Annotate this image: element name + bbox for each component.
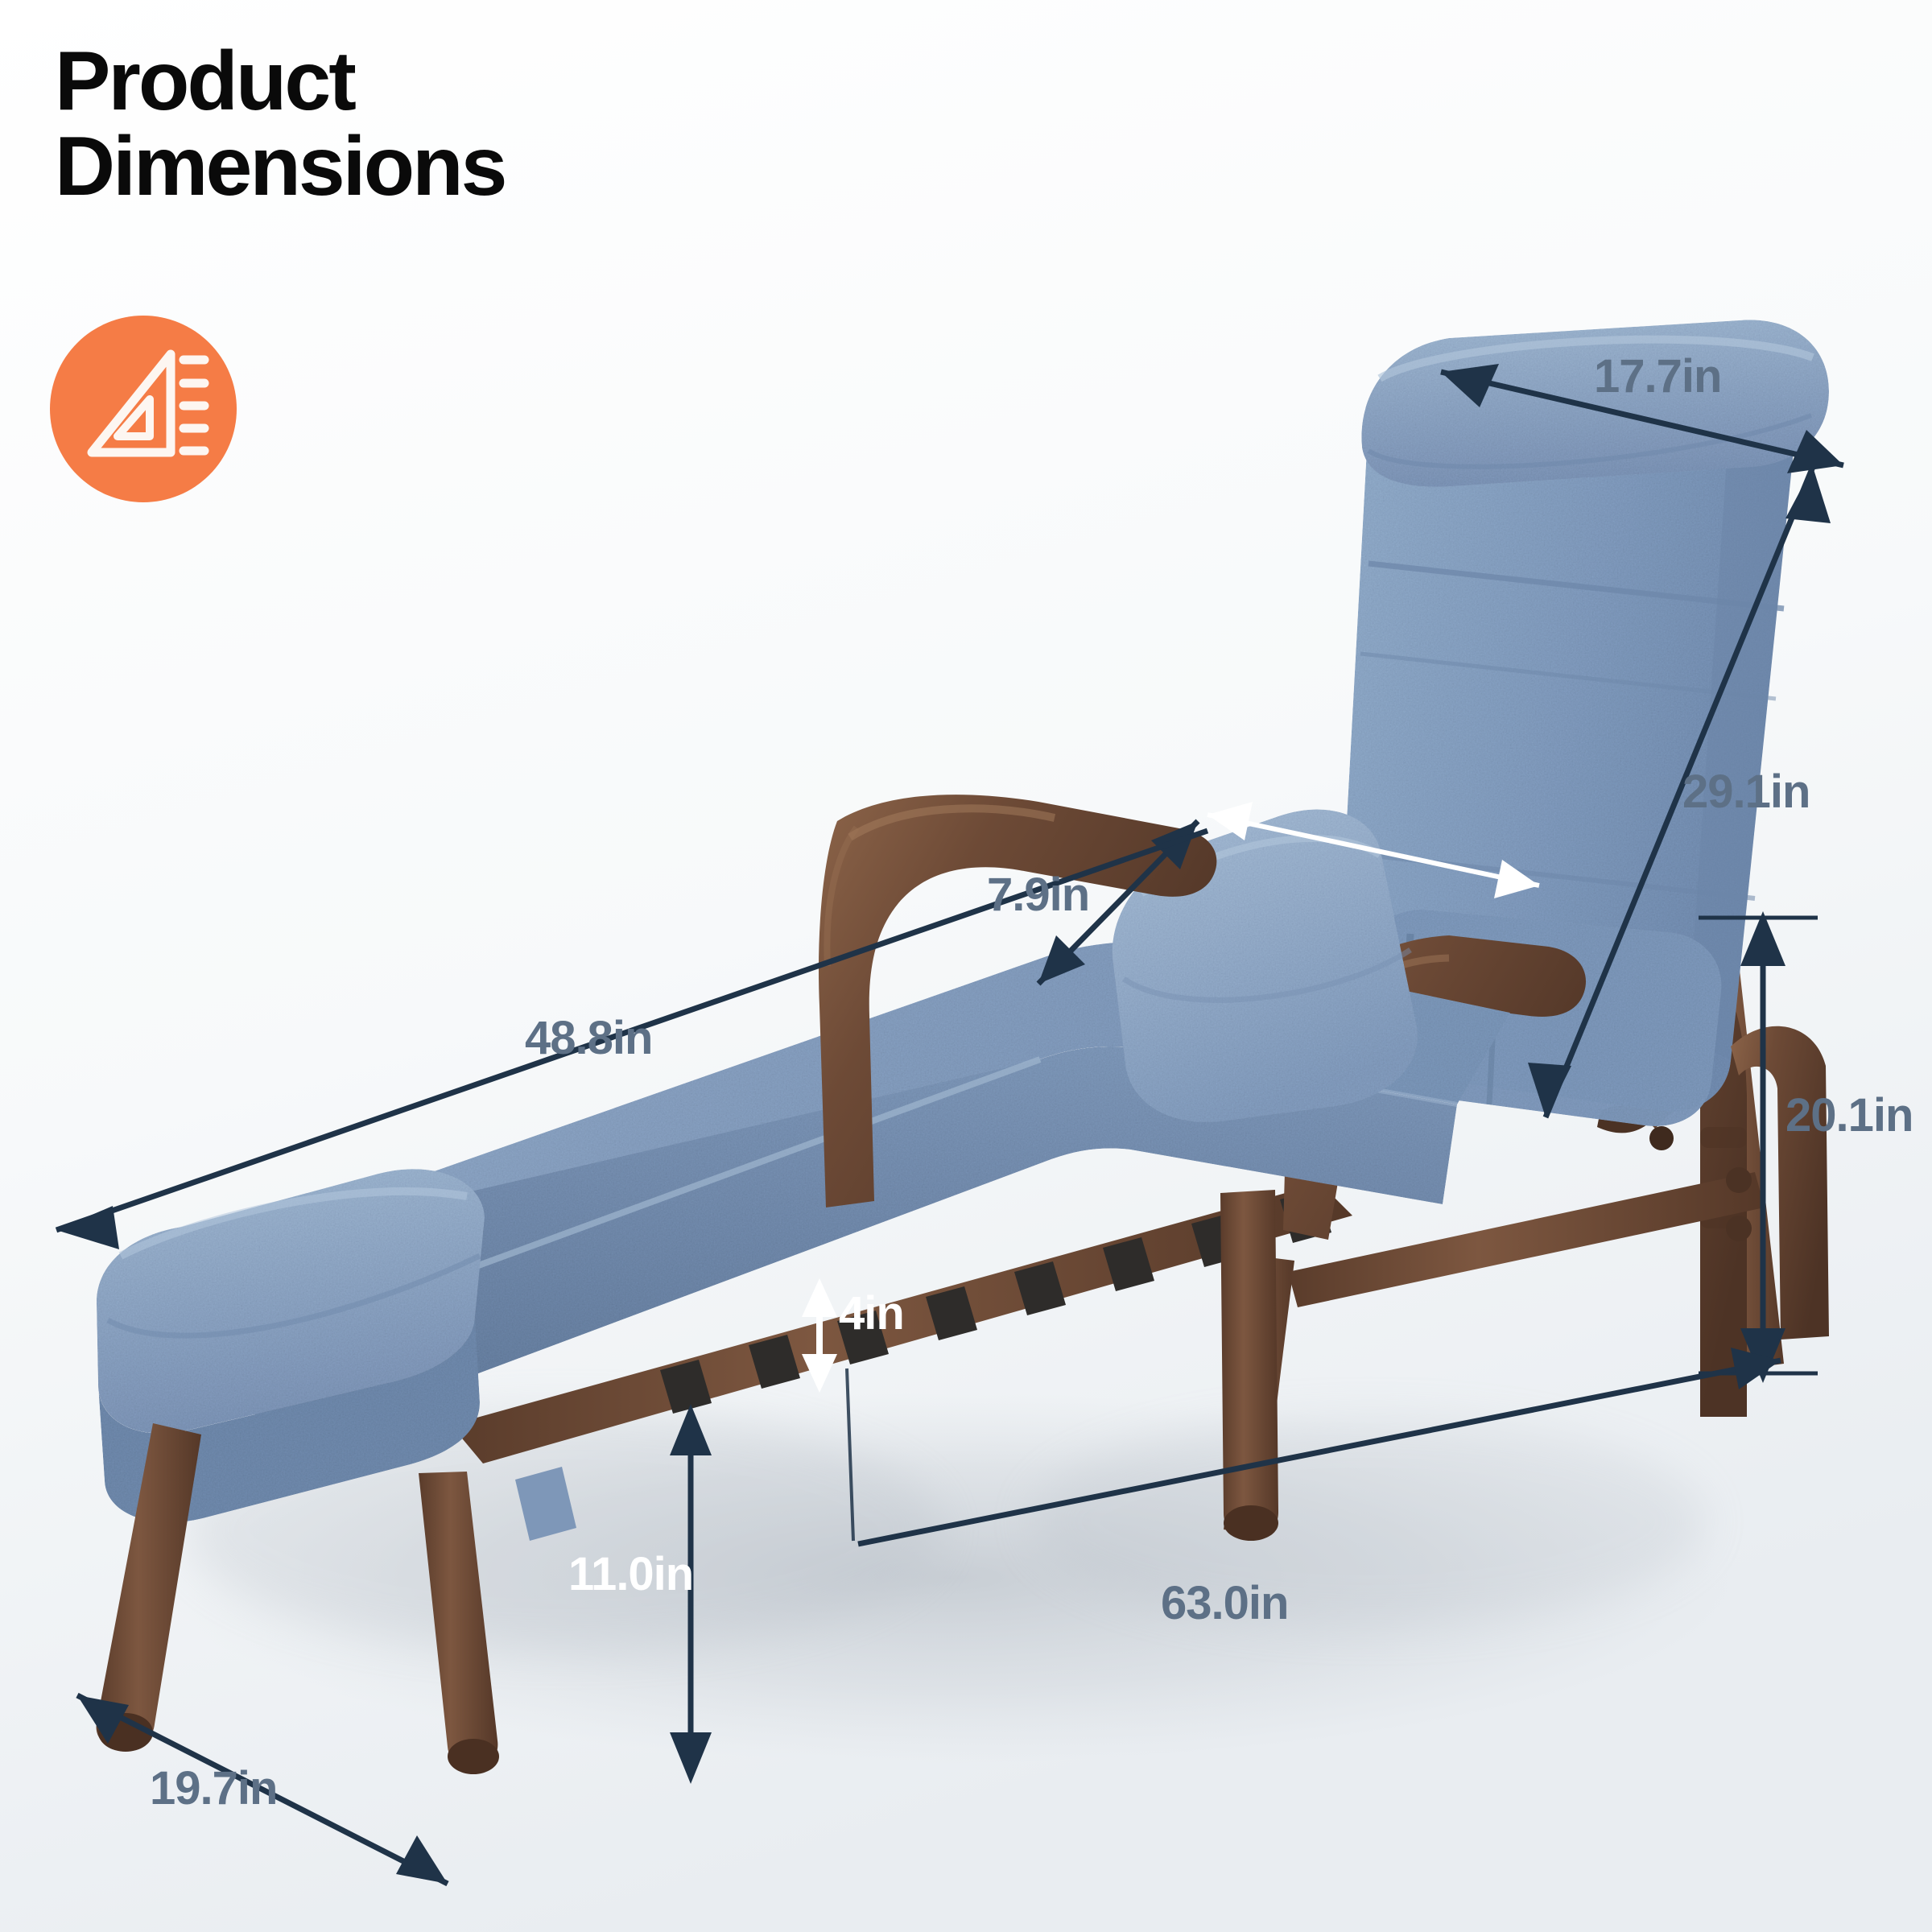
header: Product Dimensions — [55, 39, 860, 209]
ruler-triangle-icon — [50, 316, 237, 502]
dimension-label-front-leg-height: 11.0in — [568, 1547, 693, 1601]
ruler-triangle-glyph — [50, 316, 237, 502]
dimension-label-cushion-top-width: 17.7in — [1594, 349, 1721, 403]
dimension-label-armrest-depth: 7.9in — [987, 868, 1089, 922]
dimension-label-backrest-height: 29.1in — [1682, 765, 1810, 819]
dimension-label-overall-length: 63.0in — [1161, 1576, 1288, 1630]
dimension-label-seat-length: 48.8in — [525, 1011, 652, 1065]
page-title: Product Dimensions — [55, 39, 860, 209]
dimension-label-overall-width: 19.7in — [150, 1761, 277, 1815]
dimension-label-seat-height: 20.1in — [1785, 1088, 1913, 1142]
dimension-label-cushion-thickness: 4in — [839, 1286, 904, 1340]
infographic-canvas: Product Dimensions 17.7in 29.1in 7.9in 4… — [0, 0, 1932, 1932]
product-illustration — [0, 0, 1932, 1932]
